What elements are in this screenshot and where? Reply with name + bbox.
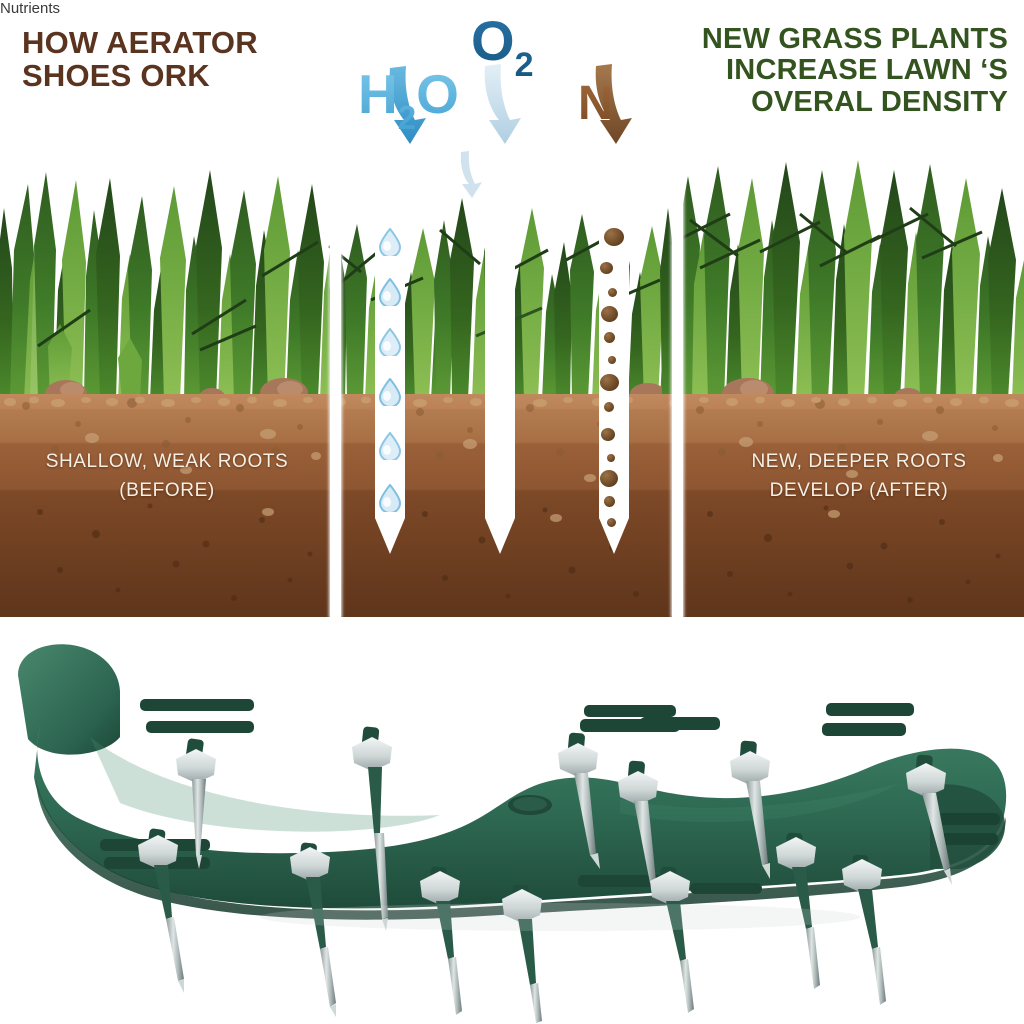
- sole-slot: [690, 883, 762, 894]
- nutrient-pellet: [608, 288, 617, 297]
- water-droplet: [378, 378, 402, 406]
- nutrient-pellet: [601, 306, 618, 322]
- sole-slot: [146, 721, 254, 733]
- label-o2: O2: [471, 8, 533, 85]
- spike: [420, 866, 462, 1015]
- sole-slot: [140, 699, 254, 711]
- water-droplet: [378, 432, 402, 460]
- heel-post: [18, 644, 120, 754]
- nutrient-pellet: [600, 470, 618, 487]
- water-droplet: [378, 228, 402, 256]
- product-photo: [0, 617, 1024, 1024]
- nutrient-pellet: [601, 428, 615, 441]
- label-h2o-main: H: [358, 63, 398, 125]
- aeration-infographic: SHALLOW, WEAK ROOTS (BEFORE) NEW, DEEPER…: [0, 0, 1024, 617]
- grass-tuft-right: [660, 148, 1024, 400]
- section-divider-right: [672, 150, 683, 617]
- headline-right: NEW GRASS PLANTS INCREASE LAWN ‘S OVERAL…: [678, 24, 1008, 118]
- nutrient-pellet: [604, 228, 624, 246]
- label-n: N: [578, 76, 613, 131]
- water-droplet: [378, 278, 402, 306]
- nutrient-pellet: [600, 374, 619, 391]
- label-n-main: N: [578, 77, 613, 130]
- nutrient-pellet: [607, 518, 616, 527]
- label-o2-sub: 2: [515, 46, 534, 84]
- sole-slot: [822, 723, 906, 736]
- toe-slot-2: [940, 833, 998, 845]
- oxygen-channel: [482, 190, 518, 558]
- section-divider-left: [330, 150, 341, 617]
- sole-slot: [584, 705, 676, 717]
- screenshot-root: SHALLOW, WEAK ROOTS (BEFORE) NEW, DEEPER…: [0, 0, 1024, 1024]
- toe-slot-1: [938, 813, 1000, 825]
- sole-slot: [640, 717, 720, 730]
- spike: [650, 866, 694, 1013]
- soil-label-before: SHALLOW, WEAK ROOTS (BEFORE): [8, 448, 326, 505]
- spike: [842, 854, 886, 1005]
- nutrient-pellet: [604, 496, 615, 507]
- grass-tuft-left: [0, 150, 339, 400]
- sole-hole-inner: [513, 797, 547, 811]
- water-droplet: [378, 484, 402, 512]
- label-h2o-tail: O: [416, 63, 459, 125]
- nutrient-pellet: [604, 402, 614, 412]
- soil-label-after: NEW, DEEPER ROOTS DEVELOP (AFTER): [700, 448, 1018, 505]
- nutrient-pellet: [608, 356, 616, 364]
- nutrient-pellet: [600, 262, 613, 274]
- sole-slot: [826, 703, 914, 716]
- nutrient-pellet: [607, 454, 615, 462]
- headline-left: HOW AERATOR SHOES ORK: [22, 26, 352, 93]
- label-h2o-sub: 2: [398, 99, 416, 136]
- nutrient-pellet: [604, 332, 615, 343]
- water-droplet: [378, 328, 402, 356]
- label-h2o: H2O: [358, 62, 459, 137]
- label-o2-main: O: [471, 9, 515, 72]
